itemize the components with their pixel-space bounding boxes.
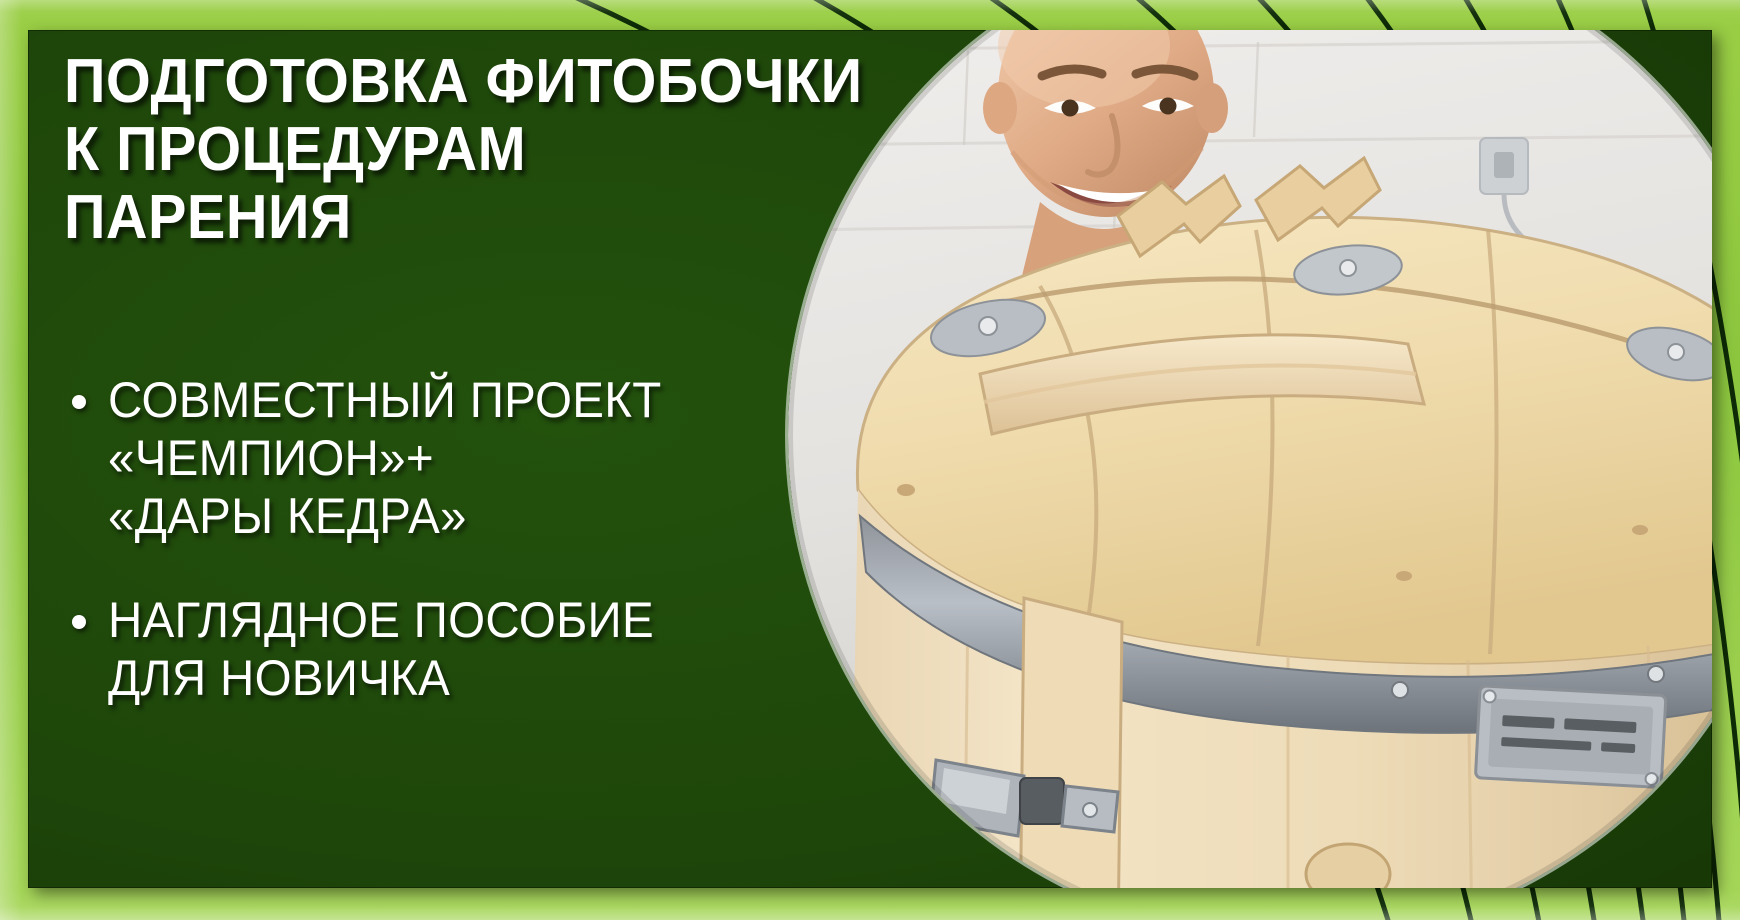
bullet-2-line-2: ДЛЯ НОВИЧКА (108, 649, 855, 707)
circular-photo (788, 30, 1712, 888)
bullet-1-line-3: «ДАРЫ КЕДРА» (108, 487, 855, 545)
headline-line-2: К ПРОЦЕДУРАМ (64, 116, 836, 184)
list-item: СОВМЕСТНЫЙ ПРОЕКТ «ЧЕМПИОН»+ «ДАРЫ КЕДРА… (64, 371, 894, 545)
bullet-1-line-2: «ЧЕМПИОН»+ (108, 429, 855, 487)
headline-line-3: ПАРЕНИЯ (64, 184, 836, 252)
list-item: НАГЛЯДНОЕ ПОСОБИЕ ДЛЯ НОВИЧКА (64, 591, 894, 707)
headline-line-1: ПОДГОТОВКА ФИТОБОЧКИ (64, 48, 836, 116)
bullet-list: СОВМЕСТНЫЙ ПРОЕКТ «ЧЕМПИОН»+ «ДАРЫ КЕДРА… (64, 371, 894, 707)
bullet-text-1: СОВМЕСТНЫЙ ПРОЕКТ «ЧЕМПИОН»+ «ДАРЫ КЕДРА… (108, 371, 855, 545)
bullet-1-line-1: СОВМЕСТНЫЙ ПРОЕКТ (108, 371, 855, 429)
bullet-text-2: НАГЛЯДНОЕ ПОСОБИЕ ДЛЯ НОВИЧКА (108, 591, 855, 707)
text-column: ПОДГОТОВКА ФИТОБОЧКИ К ПРОЦЕДУРАМ ПАРЕНИ… (64, 48, 894, 753)
bullet-2-line-1: НАГЛЯДНОЕ ПОСОБИЕ (108, 591, 855, 649)
content-panel: ПОДГОТОВКА ФИТОБОЧКИ К ПРОЦЕДУРАМ ПАРЕНИ… (28, 30, 1712, 888)
page-title: ПОДГОТОВКА ФИТОБОЧКИ К ПРОЦЕДУРАМ ПАРЕНИ… (64, 48, 836, 253)
thumbnail-slide: ПОДГОТОВКА ФИТОБОЧКИ К ПРОЦЕДУРАМ ПАРЕНИ… (0, 0, 1740, 920)
